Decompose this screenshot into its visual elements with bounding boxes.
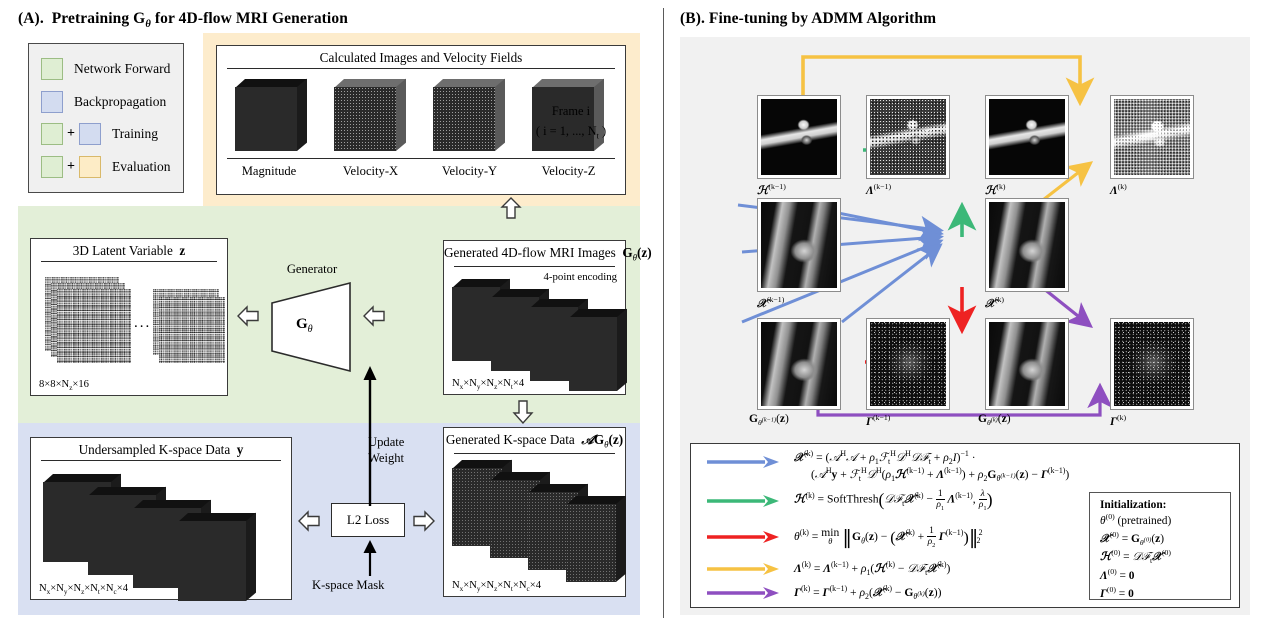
panel-a-title: (A). Pretraining Gθ for 4D-flow MRI Gene… xyxy=(18,10,348,30)
swatch-blue-icon xyxy=(41,91,63,113)
title-rule xyxy=(41,261,217,262)
swatch-cream-icon xyxy=(79,156,101,178)
eq-arrow-blue-icon xyxy=(707,456,779,468)
frame-note-line1: Frame i xyxy=(517,102,625,122)
velocity-y-image xyxy=(433,87,495,151)
arrow-latent-to-generator-icon xyxy=(236,305,260,327)
column-label: Magnitude xyxy=(217,164,321,179)
init-line-gamma: Γ(0) = 0 xyxy=(1100,585,1220,603)
label-X-cur: 𝒳(k) xyxy=(985,295,1004,311)
init-line-x: 𝒳(0) = Gθ(0)(z) xyxy=(1100,530,1220,549)
column-label: Velocity-Y xyxy=(420,164,519,179)
frame-note-line2: ( i = 1, ..., Nt ) xyxy=(517,122,625,143)
eq-arrow-green-icon xyxy=(707,495,779,507)
magnitude-image xyxy=(235,87,297,151)
image-X-prev xyxy=(757,198,841,292)
legend-item-backpropagation: Backpropagation xyxy=(41,89,173,115)
equation-gamma-update: Γ(k) = Γ(k−1) + ρ2(𝒳(k) − Gθ(k)(z)) xyxy=(794,584,941,601)
arrow-generator-to-images-icon xyxy=(362,305,386,327)
label-X-prev: 𝒳(k−1) xyxy=(757,295,784,311)
latent-plane xyxy=(159,297,225,363)
legend-label: Evaluation xyxy=(112,159,170,175)
init-line-lambda: Λ(0) = 0 xyxy=(1100,567,1220,585)
image-Lambda-prev xyxy=(866,95,950,179)
equation-theta-update: θ(k) = minθ ∥Gθ(z) − (𝒳(k) + 1 ρ2 Γ(k−1)… xyxy=(794,526,980,550)
calculated-images-card: Calculated Images and Velocity Fields Fr… xyxy=(216,45,626,195)
undersampled-dims: Nx×Ny×Nz×Nt×Nc×4 xyxy=(39,583,128,596)
generated-images-dims: Nx×Ny×Nz×Nt×4 xyxy=(452,378,524,391)
label-Gamma-prev: Γ(k−1) xyxy=(866,413,890,428)
arrow-up-to-evaluation-icon xyxy=(499,196,523,220)
image-H-prev xyxy=(757,95,841,179)
label-Gamma-cur: Γ(k) xyxy=(1110,413,1126,428)
initialization-title: Initialization: xyxy=(1100,499,1220,511)
frame-note: Frame i ( i = 1, ..., Nt ) xyxy=(517,102,625,143)
eq-arrow-purple-icon xyxy=(707,587,779,599)
panel-divider xyxy=(663,8,664,618)
title-rule xyxy=(454,266,615,267)
label-H-prev: ℋ(k−1) xyxy=(757,182,786,197)
initialization-box: Initialization: θ(0) (pretrained) 𝒳(0) =… xyxy=(1089,492,1231,600)
arrow-down-to-kspace-icon xyxy=(511,399,535,425)
four-point-note: 4-point encoding xyxy=(544,271,617,283)
latent-dims: 8×8×Nz×16 xyxy=(39,379,89,392)
kspace-image xyxy=(178,521,246,601)
update-weight-label: Update Weight xyxy=(368,435,404,466)
l2-loss-label: L2 Loss xyxy=(347,512,389,528)
legend-item-evaluation: + Evaluation xyxy=(41,154,173,180)
undersampled-kspace-card: Undersampled K-space Data y Nx×Ny×Nz×Nt×… xyxy=(30,437,292,600)
volume-magnitude xyxy=(235,79,307,151)
equations-box: 𝒳(k) = (𝒜H𝒜 + ρ1ℱtH𝒟H𝒟ℱt + ρ2I)−1 · (𝒜Hy… xyxy=(690,443,1240,608)
column-labels: Magnitude Velocity-X Velocity-Y Velocity… xyxy=(217,164,625,179)
equation-x-update-line2: (𝒜Hy + ℱtH𝒟H(ρ1ℋ(k−1) + Λ(k−1)) + ρ2Gθ(k… xyxy=(811,466,1069,483)
legend-label: Training xyxy=(112,126,158,142)
generated-kspace-image xyxy=(566,504,616,582)
image-Lambda-cur xyxy=(1110,95,1194,179)
eq-arrow-yellow-icon xyxy=(707,563,779,575)
generated-volume xyxy=(569,309,627,391)
kspace-mask-label: K-space Mask xyxy=(312,578,384,593)
volume-velocity-x xyxy=(334,79,406,151)
generator-symbol: Gθ xyxy=(296,316,313,335)
generated-images-title: Generated 4D-flow MRI Images Gθ(z) xyxy=(444,241,625,263)
volume-velocity-y xyxy=(433,79,505,151)
equation-h-update: ℋ(k) = SoftThresh(𝒟ℱt𝒳(k) − 1 ρ1 Λ(k−1),… xyxy=(794,489,993,513)
label-Lambda-prev: Λ(k−1) xyxy=(866,182,891,197)
swatch-green-icon xyxy=(41,156,63,178)
generated-kspace-dims: Nx×Ny×Nz×Nt×Nc×4 xyxy=(452,580,541,593)
label-G-cur: Gθ(k)(z) xyxy=(978,413,1011,427)
latent-plane xyxy=(57,289,131,363)
generated-images-card: Generated 4D-flow MRI Images Gθ(z) 4-poi… xyxy=(443,240,626,395)
arrow-to-loss-right-icon xyxy=(412,510,436,532)
latent-card-title: 3D Latent Variable z xyxy=(31,239,227,258)
legend-label: Network Forward xyxy=(74,61,170,77)
image-H-cur xyxy=(985,95,1069,179)
legend-plus: + xyxy=(67,126,75,142)
equation-x-update: 𝒳(k) = (𝒜H𝒜 + ρ1ℱtH𝒟H𝒟ℱt + ρ2I)−1 · xyxy=(794,449,976,466)
label-H-cur: ℋ(k) xyxy=(985,182,1006,197)
image-Gamma-cur xyxy=(1110,318,1194,410)
eq-arrow-red-icon xyxy=(707,531,779,543)
legend-plus: + xyxy=(67,159,75,175)
equation-lambda-update: Λ(k) = Λ(k−1) + ρ1(ℋ(k) − 𝒟ℱt𝒳(k)) xyxy=(794,560,950,577)
legend-item-network-forward: Network Forward xyxy=(41,56,173,82)
latent-ellipsis: ... xyxy=(134,315,151,332)
arrow-to-loss-left-icon xyxy=(297,510,321,532)
legend-box: Network Forward Backpropagation + Traini… xyxy=(28,43,184,193)
image-G-prev xyxy=(757,318,841,410)
update-weight-line2: Weight xyxy=(368,451,404,467)
title-rule xyxy=(227,68,615,69)
generator-caption: Generator xyxy=(266,262,358,277)
swatch-green-icon xyxy=(41,58,63,80)
arrow-kspace-mask-icon xyxy=(358,540,382,576)
init-line-theta: θ(0) (pretrained) xyxy=(1100,512,1220,530)
generated-image xyxy=(569,317,617,391)
l2-loss-box: L2 Loss xyxy=(331,503,405,537)
column-label: Velocity-X xyxy=(321,164,420,179)
generated-kspace-title: Generated K-space Data 𝒜Gθ(z) xyxy=(444,428,625,450)
label-Lambda-cur: Λ(k) xyxy=(1110,182,1127,197)
label-G-prev: Gθ(k−1)(z) xyxy=(749,413,789,427)
velocity-x-image xyxy=(334,87,396,151)
generated-kspace-card: Generated K-space Data 𝒜Gθ(z) Nx×Ny×Nz×N… xyxy=(443,427,626,597)
kspace-volume xyxy=(178,513,256,601)
bottom-rule xyxy=(227,158,615,159)
legend-label: Backpropagation xyxy=(74,94,166,110)
image-Gamma-prev xyxy=(866,318,950,410)
title-rule xyxy=(41,460,281,461)
undersampled-title: Undersampled K-space Data y xyxy=(31,438,291,457)
update-weight-line1: Update xyxy=(368,435,404,451)
latent-variable-card: 3D Latent Variable z ... 8×8×Nz×16 xyxy=(30,238,228,396)
title-rule xyxy=(454,453,615,454)
swatch-green-icon xyxy=(41,123,63,145)
column-label: Velocity-Z xyxy=(519,164,618,179)
calculated-images-title: Calculated Images and Velocity Fields xyxy=(217,46,625,65)
image-X-cur xyxy=(985,198,1069,292)
generated-kspace-volume xyxy=(566,496,626,582)
init-line-h: ℋ(0) = 𝒟ℱt𝒳(0) xyxy=(1100,548,1220,567)
image-G-cur xyxy=(985,318,1069,410)
swatch-blue-icon xyxy=(79,123,101,145)
legend-item-training: + Training xyxy=(41,121,173,147)
panel-b-title: (B). Fine-tuning by ADMM Algorithm xyxy=(680,10,936,28)
